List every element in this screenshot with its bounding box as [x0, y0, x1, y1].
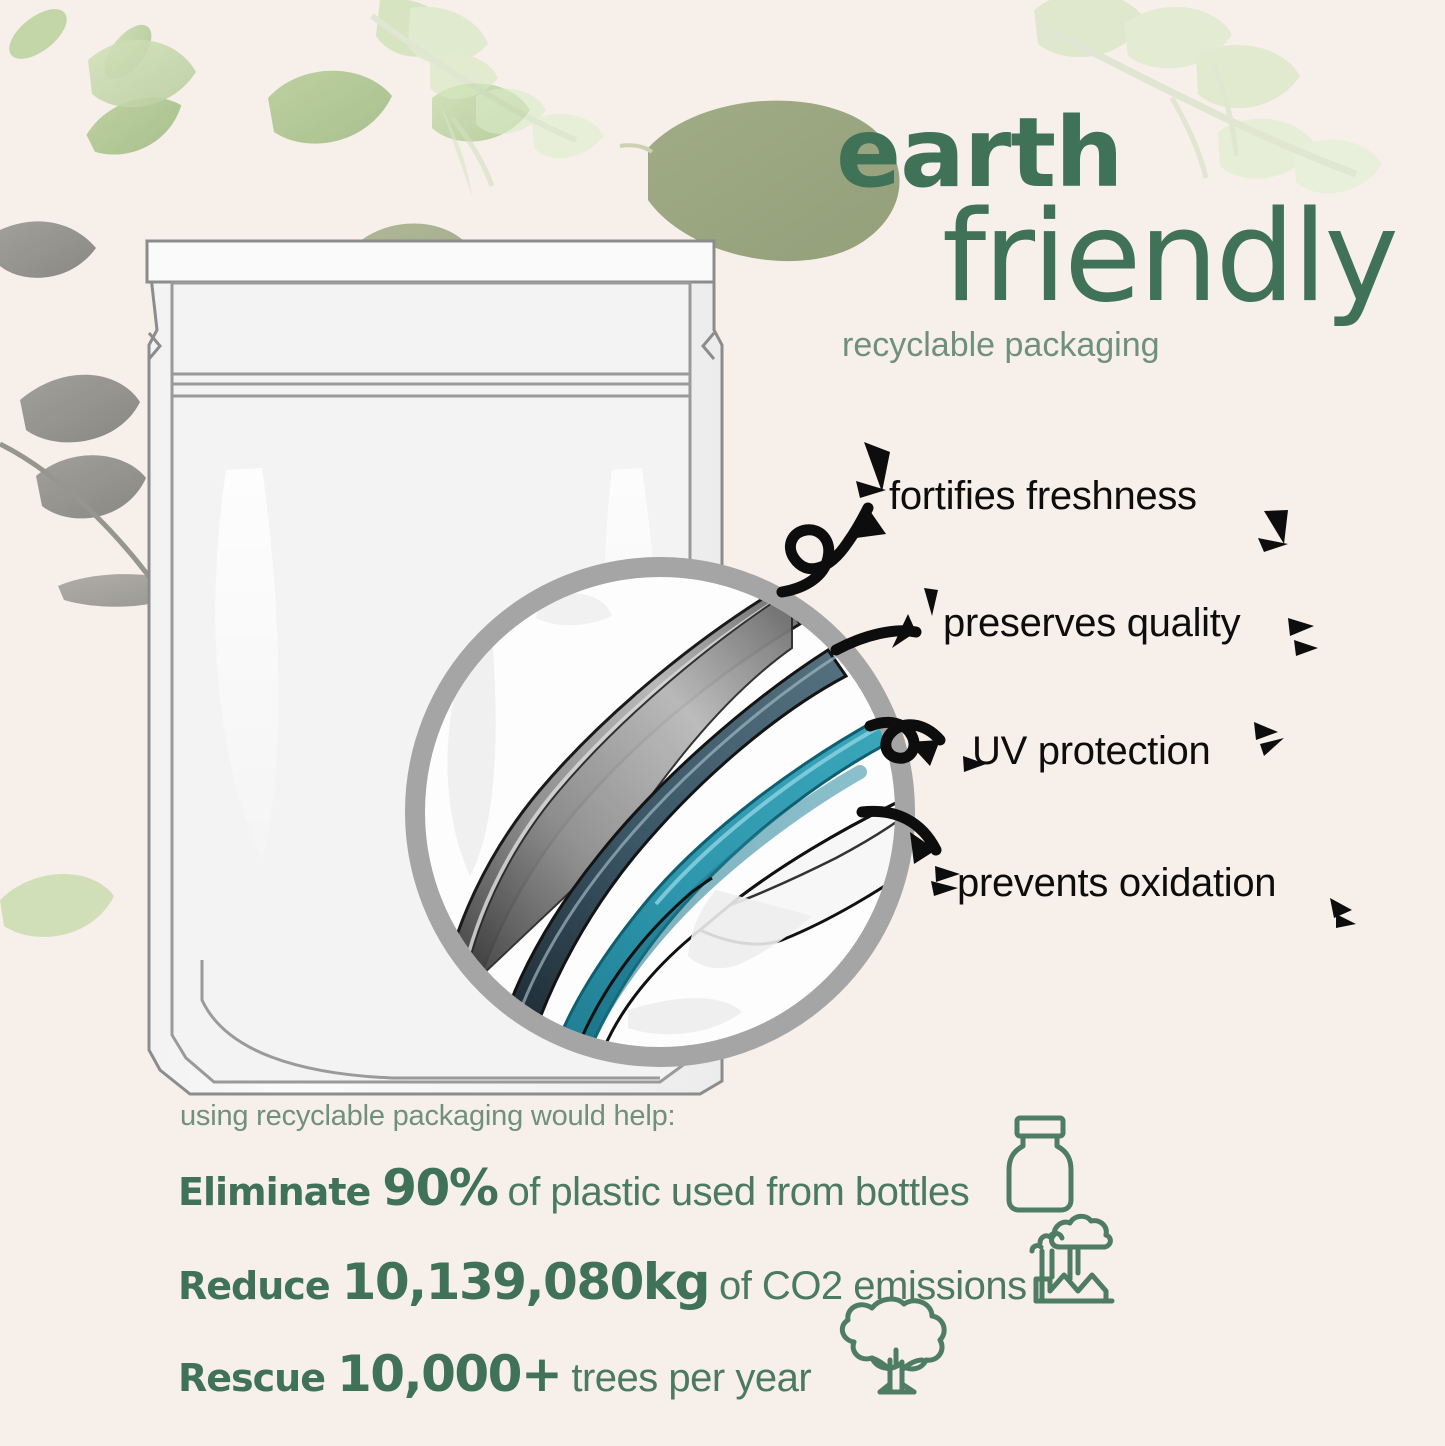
tree-icon	[828, 1292, 952, 1414]
stat-tail: trees per year	[571, 1356, 811, 1401]
feature-label-preserves-quality: preserves quality	[943, 601, 1240, 646]
headline-line-friendly: friendly	[836, 200, 1396, 313]
stat-tail: of plastic used from bottles	[507, 1170, 969, 1215]
bottle-icon	[995, 1112, 1087, 1216]
stat-value: 90%	[382, 1159, 497, 1217]
headline-subtitle: recyclable packaging	[842, 328, 1396, 362]
feature-label-uv-protection: UV protection	[972, 729, 1210, 774]
headline-block: earth friendly recyclable packaging	[836, 108, 1396, 362]
stat-verb: Eliminate	[178, 1170, 370, 1214]
feature-label-prevents-oxidation: prevents oxidation	[957, 861, 1276, 906]
stat-verb: Reduce	[178, 1264, 330, 1308]
stat-value: 10,139,080kg	[342, 1253, 709, 1311]
stat-value: 10,000+	[337, 1345, 561, 1403]
factory-icon	[1020, 1207, 1124, 1311]
stat-verb: Rescue	[178, 1356, 325, 1400]
earth-friendly-infographic: earth friendly recyclable packaging fort…	[0, 0, 1445, 1446]
stat-row: Rescue 10,000+ trees per year	[178, 1345, 1178, 1403]
feature-label-fortifies-freshness: fortifies freshness	[889, 474, 1197, 519]
